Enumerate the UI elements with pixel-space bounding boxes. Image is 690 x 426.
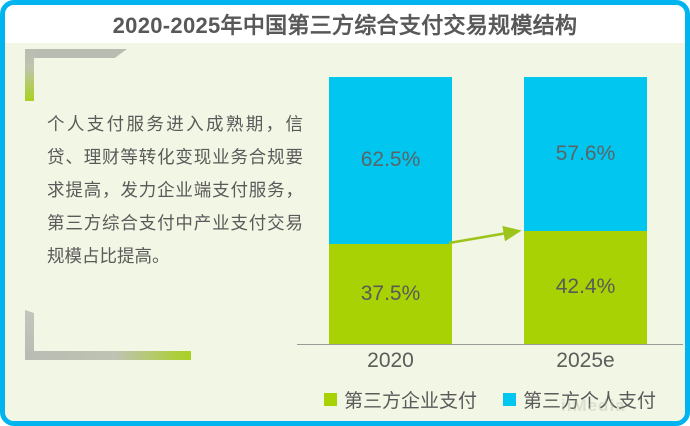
x-axis-tick-2025e: 2025e xyxy=(524,349,647,373)
legend-label-enterprise: 第三方企业支付 xyxy=(344,386,477,413)
bar-segment-enterprise-2020: 37.5% xyxy=(329,244,452,344)
bar-column-2025e: 57.6% 42.4% xyxy=(524,77,647,344)
title-bar: 2020-2025年中国第三方综合支付交易规模结构 xyxy=(5,5,685,43)
legend: 第三方企业支付 第三方个人支付 xyxy=(297,386,683,413)
bar-segment-enterprise-2025e: 42.4% xyxy=(524,231,647,344)
chart-body: 个人支付服务进入成熟期，信贷、理财等转化变现业务合规要求提高，发力企业端支付服务… xyxy=(5,43,685,421)
x-axis-line xyxy=(297,344,683,345)
legend-item-enterprise[interactable]: 第三方企业支付 xyxy=(324,386,477,413)
legend-item-personal[interactable]: 第三方个人支付 xyxy=(503,386,656,413)
square-swatch-green-icon xyxy=(324,393,337,406)
plot-area: 62.5% 37.5% 57.6% 42.4% 2020 2025e xyxy=(297,63,683,345)
insight-text: 个人支付服务进入成熟期，信贷、理财等转化变现业务合规要求提高，发力企业端支付服务… xyxy=(47,108,303,273)
x-axis-tick-2020: 2020 xyxy=(329,349,452,373)
bar-column-2020: 62.5% 37.5% xyxy=(329,77,452,344)
page-title: 2020-2025年中国第三方综合支付交易规模结构 xyxy=(113,8,578,40)
legend-label-personal: 第三方个人支付 xyxy=(523,386,656,413)
chart-card: 2020-2025年中国第三方综合支付交易规模结构 个人支付服务进入成熟期，信贷… xyxy=(0,0,690,426)
bar-segment-personal-2020: 62.5% xyxy=(329,77,452,244)
corner-bracket-top-left-horizontal xyxy=(25,49,127,58)
square-swatch-cyan-icon xyxy=(503,393,516,406)
bar-segment-personal-2025e: 57.6% xyxy=(524,77,647,231)
corner-bracket-bottom-left-horizontal xyxy=(25,351,191,360)
corner-bracket-top-left-vertical xyxy=(25,49,34,101)
